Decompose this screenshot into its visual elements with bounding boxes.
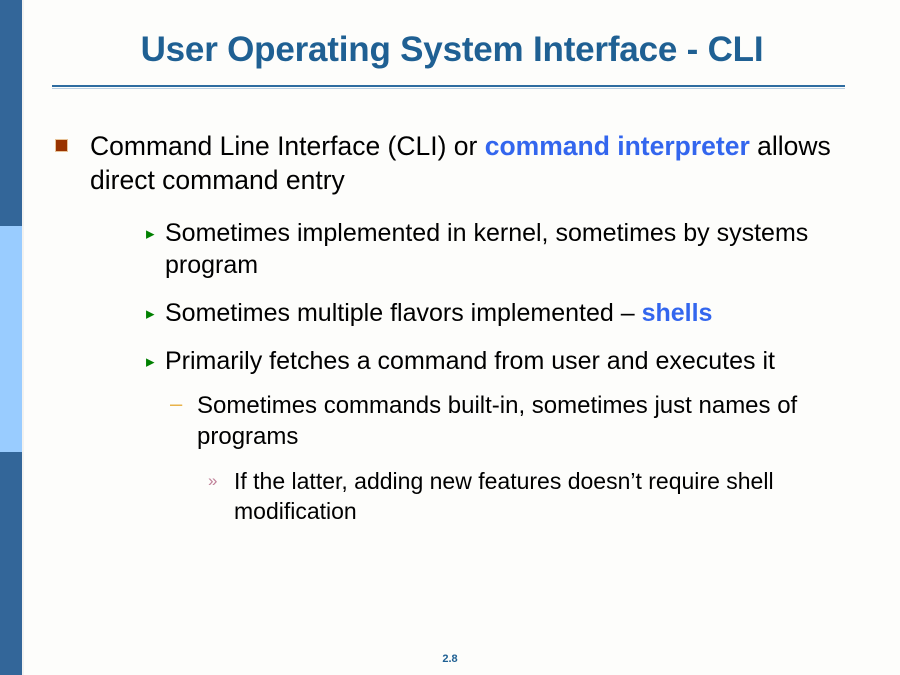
bullet-segment: Command Line Interface (CLI) or	[90, 131, 485, 161]
bullet-segment-emphasis: shells	[642, 299, 713, 327]
bullet-item: ▸ Primarily fetches a command from user …	[22, 345, 900, 377]
bullet-item: ▸ Sometimes implemented in kernel, somet…	[22, 217, 900, 281]
bullet-text: If the latter, adding new features doesn…	[234, 467, 900, 527]
triangle-bullet-icon: ▸	[146, 353, 155, 370]
spacer	[22, 333, 900, 345]
triangle-bullet-icon: ▸	[146, 305, 155, 322]
bullet-item: Command Line Interface (CLI) or command …	[22, 130, 900, 198]
spacer	[22, 456, 900, 467]
triangle-bullet-icon: ▸	[146, 225, 155, 242]
dash-bullet-icon: –	[170, 393, 182, 415]
sidebar-band-middle	[0, 226, 22, 452]
bullet-text: Sometimes commands built-in, sometimes j…	[197, 391, 900, 452]
bullet-item: – Sometimes commands built-in, sometimes…	[22, 391, 900, 452]
sidebar-band-bottom	[0, 452, 22, 675]
sidebar-decoration	[0, 0, 22, 675]
bullet-text: Command Line Interface (CLI) or command …	[90, 130, 900, 198]
bullet-text: Sometimes multiple flavors implemented –…	[165, 297, 900, 329]
sidebar-band-top	[0, 0, 22, 226]
bullet-segment: Sometimes multiple flavors implemented –	[165, 299, 642, 327]
page-number: 2.8	[0, 653, 900, 665]
slide-body: Command Line Interface (CLI) or command …	[22, 130, 900, 531]
spacer	[22, 381, 900, 391]
guillemet-bullet-icon: »	[208, 472, 217, 489]
slide-canvas: User Operating System Interface - CLI Co…	[0, 0, 900, 675]
spacer	[22, 204, 900, 217]
slide-title: User Operating System Interface - CLI	[22, 30, 882, 70]
square-bullet-icon	[55, 139, 68, 152]
title-divider	[52, 85, 845, 87]
bullet-segment-emphasis: command interpreter	[485, 131, 750, 161]
bullet-item: » If the latter, adding new features doe…	[22, 467, 900, 527]
spacer	[22, 285, 900, 297]
bullet-item: ▸ Sometimes multiple flavors implemented…	[22, 297, 900, 329]
title-divider-shadow	[52, 88, 845, 89]
bullet-text: Primarily fetches a command from user an…	[165, 345, 900, 377]
bullet-text: Sometimes implemented in kernel, sometim…	[165, 217, 900, 281]
